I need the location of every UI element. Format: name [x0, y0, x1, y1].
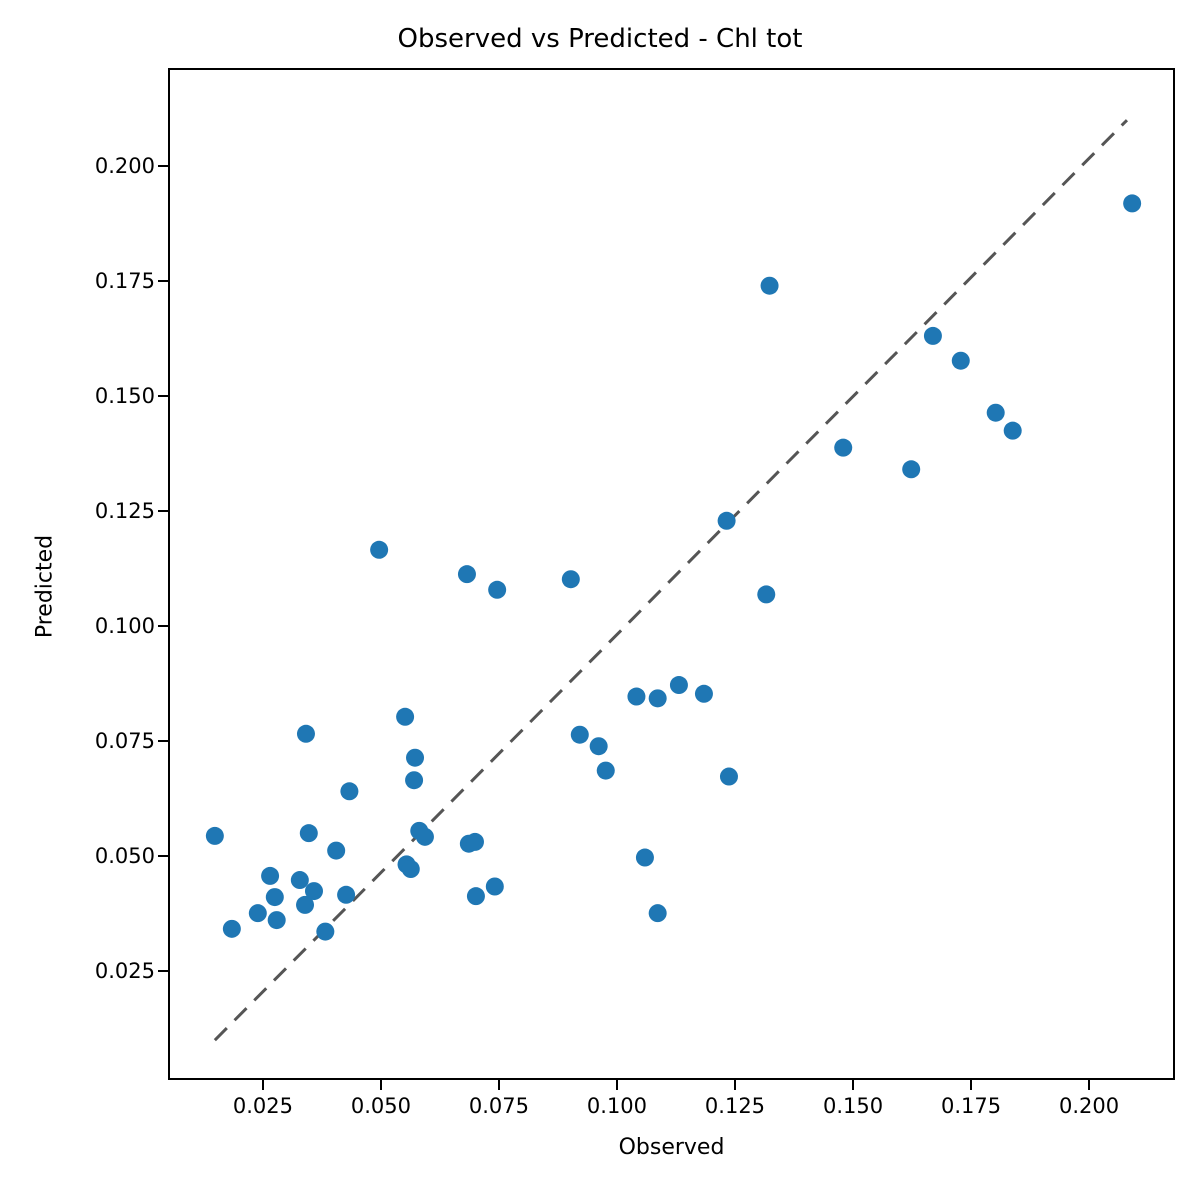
data-point: [458, 565, 476, 583]
data-point: [670, 676, 688, 694]
data-point: [1123, 194, 1141, 212]
x-tick-label: 0.025: [233, 1094, 293, 1118]
y-tick-label: 0.125: [95, 499, 155, 523]
data-point: [337, 886, 355, 904]
x-tick-mark: [1088, 1080, 1090, 1090]
y-tick-mark: [158, 740, 168, 742]
data-point: [761, 277, 779, 295]
data-point: [370, 541, 388, 559]
y-tick-label: 0.100: [95, 614, 155, 638]
y-tick-label: 0.150: [95, 384, 155, 408]
data-point: [562, 570, 580, 588]
data-point: [300, 824, 318, 842]
data-point: [1004, 422, 1022, 440]
x-axis-label: Observed: [168, 1135, 1175, 1160]
y-tick-mark: [158, 395, 168, 397]
x-tick-label: 0.050: [351, 1094, 411, 1118]
plot-area: [168, 68, 1175, 1080]
data-point: [720, 768, 738, 786]
data-point: [571, 726, 589, 744]
data-point: [416, 828, 434, 846]
y-tick-mark: [158, 855, 168, 857]
identity-line: [215, 120, 1127, 1040]
y-axis-label: Predicted: [33, 287, 58, 887]
y-tick-mark: [158, 625, 168, 627]
data-point: [406, 749, 424, 767]
data-point: [327, 842, 345, 860]
x-tick-mark: [616, 1080, 618, 1090]
x-tick-label: 0.125: [705, 1094, 765, 1118]
data-point: [834, 439, 852, 457]
data-point: [266, 888, 284, 906]
x-tick-mark: [852, 1080, 854, 1090]
data-point: [757, 585, 775, 603]
data-point: [597, 762, 615, 780]
data-point: [405, 771, 423, 789]
data-point: [924, 327, 942, 345]
y-tick-label: 0.175: [95, 269, 155, 293]
y-tick-label: 0.025: [95, 959, 155, 983]
y-tick-mark: [158, 970, 168, 972]
x-tick-label: 0.200: [1059, 1094, 1119, 1118]
data-point: [467, 887, 485, 905]
data-point: [718, 512, 736, 530]
x-tick-mark: [262, 1080, 264, 1090]
x-tick-mark: [380, 1080, 382, 1090]
x-tick-mark: [734, 1080, 736, 1090]
y-tick-label: 0.050: [95, 844, 155, 868]
data-point: [316, 923, 334, 941]
data-point: [488, 581, 506, 599]
data-point: [952, 352, 970, 370]
data-point: [486, 878, 504, 896]
data-point: [261, 867, 279, 885]
data-point: [291, 871, 309, 889]
y-tick-label: 0.075: [95, 729, 155, 753]
data-point: [297, 725, 315, 743]
data-point: [636, 849, 654, 867]
data-points-group: [206, 194, 1141, 940]
data-point: [590, 737, 608, 755]
y-tick-mark: [158, 165, 168, 167]
x-tick-label: 0.150: [823, 1094, 883, 1118]
plot-canvas: [170, 70, 1175, 1080]
x-tick-label: 0.100: [587, 1094, 647, 1118]
y-axis-tick-labels: 0.0250.0500.0750.1000.1250.1500.1750.200: [0, 0, 155, 1200]
x-tick-label: 0.075: [469, 1094, 529, 1118]
data-point: [206, 827, 224, 845]
y-tick-mark: [158, 280, 168, 282]
data-point: [649, 904, 667, 922]
data-point: [627, 688, 645, 706]
data-point: [223, 920, 241, 938]
data-point: [649, 689, 667, 707]
data-point: [268, 911, 286, 929]
scatter-plot-figure: Observed vs Predicted - Chl tot 0.0250.0…: [0, 0, 1200, 1200]
data-point: [249, 904, 267, 922]
x-tick-mark: [498, 1080, 500, 1090]
x-tick-mark: [970, 1080, 972, 1090]
y-tick-mark: [158, 510, 168, 512]
data-point: [466, 833, 484, 851]
identity-reference-line: [215, 120, 1127, 1040]
y-tick-label: 0.200: [95, 154, 155, 178]
data-point: [902, 460, 920, 478]
data-point: [305, 882, 323, 900]
data-point: [340, 782, 358, 800]
data-point: [695, 685, 713, 703]
data-point: [987, 404, 1005, 422]
data-point: [396, 708, 414, 726]
x-tick-label: 0.175: [941, 1094, 1001, 1118]
data-point: [402, 860, 420, 878]
chart-title: Observed vs Predicted - Chl tot: [0, 24, 1200, 54]
